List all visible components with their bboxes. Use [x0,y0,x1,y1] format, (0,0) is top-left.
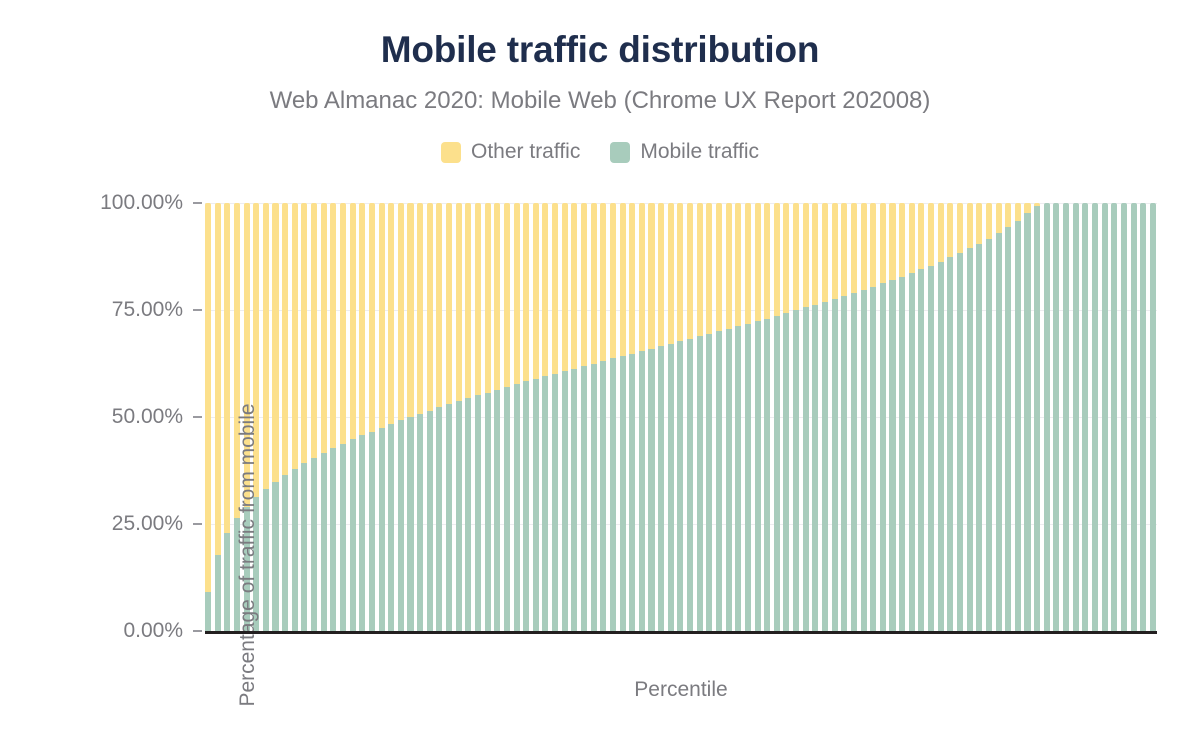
bar-segment-mobile-traffic [938,262,944,631]
bar-segment-other-traffic [379,203,385,428]
bar-segment-other-traffic [822,203,828,302]
bar-segment-other-traffic [726,203,732,329]
bar-column[interactable] [1034,203,1040,631]
bar-segment-other-traffic [427,203,433,411]
bar-column[interactable] [379,203,385,631]
x-axis-line [205,631,1157,634]
bar-column[interactable] [446,203,452,631]
bar-column[interactable] [889,203,895,631]
x-axis-title: Percentile [205,678,1157,702]
bar-segment-mobile-traffic [436,407,442,631]
bar-segment-other-traffic [215,203,221,555]
bar-column[interactable] [783,203,789,631]
bar-segment-mobile-traffic [1063,203,1069,631]
bar-segment-other-traffic [697,203,703,336]
bar-segment-other-traffic [533,203,539,379]
bar-segment-mobile-traffic [774,316,780,631]
chart-figure: Mobile traffic distribution Web Almanac … [0,0,1200,742]
bar-segment-other-traffic [282,203,288,475]
bar-column[interactable] [301,203,307,631]
bar-segment-other-traffic [417,203,423,414]
bar-segment-mobile-traffic [282,475,288,631]
bar-segment-mobile-traffic [398,420,404,631]
bar-segment-other-traffic [793,203,799,310]
bar-segment-mobile-traffic [330,448,336,631]
bar-column[interactable] [648,203,654,631]
bar-column[interactable] [639,203,645,631]
bar-column[interactable] [880,203,886,631]
bar-segment-mobile-traffic [379,428,385,631]
bar-column[interactable] [870,203,876,631]
bar-column[interactable] [793,203,799,631]
bar-column[interactable] [272,203,278,631]
bar-segment-other-traffic [340,203,346,444]
bar-segment-other-traffic [359,203,365,435]
bar-segment-other-traffic [272,203,278,482]
bar-segment-other-traffic [639,203,645,351]
bar-segment-other-traffic [369,203,375,432]
bar-column[interactable] [812,203,818,631]
bar-segment-other-traffic [523,203,529,381]
bar-column[interactable] [706,203,712,631]
bar-column[interactable] [533,203,539,631]
bar-segment-mobile-traffic [1024,213,1030,631]
bar-column[interactable] [1024,203,1030,631]
bar-segment-other-traffic [648,203,654,349]
bar-segment-mobile-traffic [581,366,587,631]
bar-segment-mobile-traffic [687,339,693,631]
y-axis-tick-mark [193,309,202,311]
bar-segment-mobile-traffic [735,326,741,631]
bar-column[interactable] [1140,203,1146,631]
bar-segment-mobile-traffic [697,336,703,631]
bar-segment-mobile-traffic [301,463,307,631]
bar-column[interactable] [629,203,635,631]
bar-segment-mobile-traffic [591,364,597,632]
bar-column[interactable] [726,203,732,631]
bar-segment-mobile-traffic [1073,203,1079,631]
bar-segment-mobile-traffic [764,319,770,631]
bar-segment-mobile-traffic [861,290,867,631]
plot-wrapper: Percentage of traffic from mobile 0.00%2… [0,0,1200,742]
bar-column[interactable] [996,203,1002,631]
bar-column[interactable] [1082,203,1088,631]
bar-segment-other-traffic [938,203,944,262]
bar-column[interactable] [359,203,365,631]
bar-column[interactable] [803,203,809,631]
bar-segment-mobile-traffic [909,273,915,631]
bar-segment-mobile-traffic [542,376,548,631]
bar-segment-mobile-traffic [706,334,712,631]
bar-segment-mobile-traffic [648,349,654,631]
bar-column[interactable] [350,203,356,631]
bar-segment-other-traffic [292,203,298,469]
bar-segment-other-traffic [542,203,548,376]
bar-segment-other-traffic [967,203,973,248]
bar-segment-other-traffic [581,203,587,366]
bar-segment-mobile-traffic [745,324,751,631]
bar-segment-mobile-traffic [600,361,606,631]
bar-column[interactable] [1053,203,1059,631]
bar-segment-other-traffic [889,203,895,280]
bar-column[interactable] [523,203,529,631]
bar-segment-mobile-traffic [928,266,934,632]
bar-segment-other-traffic [263,203,269,489]
bar-segment-mobile-traffic [658,346,664,631]
bar-segment-mobile-traffic [899,277,905,631]
bar-column[interactable] [1150,203,1156,631]
bar-column[interactable] [427,203,433,631]
bar-segment-mobile-traffic [446,404,452,631]
bar-column[interactable] [321,203,327,631]
bar-segment-other-traffic [485,203,491,393]
bar-column[interactable] [735,203,741,631]
bar-column[interactable] [436,203,442,631]
bar-segment-other-traffic [716,203,722,331]
bar-column[interactable] [1073,203,1079,631]
bar-segment-mobile-traffic [475,395,481,631]
bar-segment-other-traffic [841,203,847,296]
bar-segment-mobile-traffic [726,329,732,631]
bar-segment-mobile-traffic [880,283,886,631]
bar-column[interactable] [716,203,722,631]
y-axis-tick-mark [193,523,202,525]
bar-column[interactable] [398,203,404,631]
bar-segment-other-traffic [407,203,413,417]
bar-segment-mobile-traffic [369,432,375,631]
bar-segment-mobile-traffic [514,384,520,631]
bar-column[interactable] [562,203,568,631]
bar-column[interactable] [851,203,857,631]
bar-column[interactable] [764,203,770,631]
bar-column[interactable] [292,203,298,631]
bar-column[interactable] [514,203,520,631]
bar-segment-other-traffic [205,203,211,592]
bar-segment-mobile-traffic [1082,203,1088,631]
bar-segment-mobile-traffic [1044,203,1050,631]
bar-segment-mobile-traffic [340,444,346,631]
bar-column[interactable] [417,203,423,631]
bar-column[interactable] [215,203,221,631]
bar-segment-other-traffic [957,203,963,253]
bar-column[interactable] [755,203,761,631]
bar-segment-other-traffic [504,203,510,387]
bar-segment-mobile-traffic [755,321,761,631]
bar-column[interactable] [687,203,693,631]
bar-segment-mobile-traffic [783,313,789,631]
bar-segment-other-traffic [774,203,780,316]
bar-column[interactable] [1044,203,1050,631]
bar-segment-mobile-traffic [832,299,838,631]
bar-segment-mobile-traffic [996,233,1002,631]
bar-column[interactable] [591,203,597,631]
bar-segment-other-traffic [851,203,857,293]
bar-column[interactable] [677,203,683,631]
bar-column[interactable] [600,203,606,631]
y-axis-tick-label: 0.00% [0,620,183,641]
bar-segment-mobile-traffic [1140,203,1146,631]
bar-segment-mobile-traffic [427,411,433,631]
bar-column[interactable] [388,203,394,631]
bar-segment-mobile-traffic [350,439,356,631]
bar-segment-other-traffic [735,203,741,326]
y-axis-tick-mark [193,630,202,632]
bar-segment-mobile-traffic [465,398,471,631]
bar-segment-mobile-traffic [610,358,616,631]
bar-segment-other-traffic [755,203,761,321]
bar-column[interactable] [282,203,288,631]
bar-column[interactable] [1063,203,1069,631]
bar-segment-other-traffic [668,203,674,344]
bar-column[interactable] [822,203,828,631]
bar-segment-mobile-traffic [504,387,510,631]
bar-segment-other-traffic [620,203,626,356]
y-axis-tick-label: 75.00% [0,299,183,320]
bar-segment-mobile-traffic [947,257,953,631]
bar-segment-other-traffic [658,203,664,346]
bar-segment-other-traffic [677,203,683,341]
bar-column[interactable] [465,203,471,631]
bar-column[interactable] [928,203,934,631]
bar-segment-mobile-traffic [485,393,491,631]
bar-segment-mobile-traffic [620,356,626,631]
bar-column[interactable] [542,203,548,631]
bar-segment-other-traffic [880,203,886,283]
bar-segment-other-traffic [610,203,616,358]
bar-segment-mobile-traffic [716,331,722,631]
bar-segment-other-traffic [330,203,336,448]
bar-column[interactable] [918,203,924,631]
bar-segment-mobile-traffic [215,555,221,631]
bar-column[interactable] [745,203,751,631]
bar-column[interactable] [1015,203,1021,631]
bar-segment-mobile-traffic [321,453,327,631]
bar-segment-mobile-traffic [889,280,895,631]
bar-segment-mobile-traffic [803,307,809,631]
bar-segment-mobile-traffic [1150,203,1156,631]
bar-segment-mobile-traffic [571,369,577,631]
bar-segment-other-traffic [321,203,327,453]
bar-column[interactable] [407,203,413,631]
bar-segment-mobile-traffic [677,341,683,631]
bar-column[interactable] [1111,203,1117,631]
bar-segment-mobile-traffic [668,344,674,631]
bar-segment-other-traffic [301,203,307,463]
bar-column[interactable] [581,203,587,631]
bar-segment-other-traffic [456,203,462,401]
bar-segment-mobile-traffic [456,401,462,631]
bar-segment-other-traffic [629,203,635,354]
bar-segment-mobile-traffic [851,293,857,631]
bar-segment-other-traffic [436,203,442,407]
y-axis-tick-mark [193,416,202,418]
bar-segment-other-traffic [388,203,394,424]
bar-column[interactable] [456,203,462,631]
bar-segment-mobile-traffic [562,371,568,631]
bar-column[interactable] [976,203,982,631]
bar-segment-other-traffic [918,203,924,269]
bar-column[interactable] [504,203,510,631]
bar-column[interactable] [205,203,211,631]
bar-column[interactable] [986,203,992,631]
bar-segment-mobile-traffic [292,469,298,631]
y-axis-tick-label: 100.00% [0,192,183,213]
bar-segment-other-traffic [224,203,230,533]
bar-segment-other-traffic [475,203,481,395]
bar-segment-other-traffic [909,203,915,273]
bar-column[interactable] [967,203,973,631]
bar-segment-mobile-traffic [918,269,924,631]
bar-segment-other-traffic [745,203,751,324]
y-axis-tick-label: 50.00% [0,406,183,427]
bar-column[interactable] [571,203,577,631]
bar-segment-other-traffic [571,203,577,369]
bar-segment-other-traffic [706,203,712,334]
bar-column[interactable] [658,203,664,631]
bar-column[interactable] [697,203,703,631]
bar-segment-mobile-traffic [957,253,963,631]
bar-segment-mobile-traffic [388,424,394,631]
bar-segment-other-traffic [687,203,693,339]
bar-column[interactable] [1005,203,1011,631]
bar-segment-mobile-traffic [1034,206,1040,631]
bar-segment-mobile-traffic [629,354,635,631]
bar-column[interactable] [947,203,953,631]
bar-segment-other-traffic [591,203,597,364]
bar-segment-other-traffic [976,203,982,244]
bar-column[interactable] [552,203,558,631]
bar-segment-other-traffic [446,203,452,404]
bar-segment-mobile-traffic [1005,227,1011,631]
bar-column[interactable] [899,203,905,631]
bar-column[interactable] [224,203,230,631]
bar-segment-other-traffic [398,203,404,420]
bar-column[interactable] [369,203,375,631]
bar-column[interactable] [311,203,317,631]
bar-segment-other-traffic [311,203,317,458]
bar-segment-mobile-traffic [311,458,317,631]
bar-segment-other-traffic [812,203,818,305]
bar-segment-mobile-traffic [1111,203,1117,631]
bar-segment-other-traffic [986,203,992,239]
bar-segment-mobile-traffic [417,414,423,631]
bar-segment-other-traffic [996,203,1002,233]
bar-column[interactable] [620,203,626,631]
bar-segment-mobile-traffic [986,239,992,631]
bar-segment-other-traffic [928,203,934,265]
bar-segment-mobile-traffic [272,482,278,631]
bar-segment-mobile-traffic [822,302,828,631]
bar-column[interactable] [774,203,780,631]
bar-segment-mobile-traffic [1015,221,1021,631]
bar-column[interactable] [263,203,269,631]
bar-segment-other-traffic [764,203,770,319]
bar-column[interactable] [957,203,963,631]
y-axis-tick-label: 25.00% [0,513,183,534]
bar-column[interactable] [475,203,481,631]
bar-segment-mobile-traffic [494,390,500,631]
bar-segment-mobile-traffic [976,244,982,631]
bar-column[interactable] [330,203,336,631]
bar-segment-mobile-traffic [263,489,269,631]
bar-column[interactable] [494,203,500,631]
bar-segment-other-traffic [1015,203,1021,221]
bar-segment-other-traffic [947,203,953,257]
bar-series-group [205,203,1157,631]
bar-segment-other-traffic [552,203,558,374]
bar-segment-mobile-traffic [205,592,211,631]
y-axis-tick-mark [193,202,202,204]
bar-segment-other-traffic [465,203,471,398]
bar-segment-other-traffic [562,203,568,371]
bar-column[interactable] [832,203,838,631]
bar-segment-other-traffic [783,203,789,313]
bar-column[interactable] [668,203,674,631]
bar-segment-mobile-traffic [841,296,847,631]
bar-segment-mobile-traffic [967,248,973,631]
bar-segment-other-traffic [803,203,809,307]
bar-column[interactable] [485,203,491,631]
bar-segment-mobile-traffic [1102,203,1108,631]
bar-column[interactable] [1121,203,1127,631]
bar-segment-mobile-traffic [639,351,645,631]
bar-column[interactable] [841,203,847,631]
bar-column[interactable] [1102,203,1108,631]
bar-segment-other-traffic [1005,203,1011,227]
bar-segment-other-traffic [899,203,905,277]
bar-column[interactable] [1092,203,1098,631]
bar-column[interactable] [861,203,867,631]
bar-segment-mobile-traffic [793,310,799,631]
bar-segment-mobile-traffic [407,417,413,631]
bar-column[interactable] [938,203,944,631]
bar-segment-mobile-traffic [224,533,230,631]
bar-segment-other-traffic [1024,203,1030,213]
bar-segment-other-traffic [350,203,356,439]
bar-segment-mobile-traffic [1092,203,1098,631]
bar-segment-other-traffic [861,203,867,290]
bar-segment-mobile-traffic [870,287,876,631]
bar-segment-other-traffic [832,203,838,299]
bar-column[interactable] [610,203,616,631]
bar-segment-mobile-traffic [1131,203,1137,631]
bar-segment-mobile-traffic [523,381,529,631]
bar-segment-mobile-traffic [552,374,558,631]
bar-column[interactable] [340,203,346,631]
bar-segment-other-traffic [514,203,520,384]
bar-segment-mobile-traffic [1053,203,1059,631]
bar-segment-mobile-traffic [812,305,818,631]
bar-segment-other-traffic [600,203,606,361]
bar-segment-mobile-traffic [359,435,365,631]
bar-column[interactable] [1131,203,1137,631]
plot-area: Percentage of traffic from mobile [205,203,1157,631]
bar-segment-mobile-traffic [1121,203,1127,631]
bar-segment-other-traffic [494,203,500,390]
bar-segment-other-traffic [870,203,876,287]
bar-segment-mobile-traffic [533,379,539,631]
bar-column[interactable] [909,203,915,631]
